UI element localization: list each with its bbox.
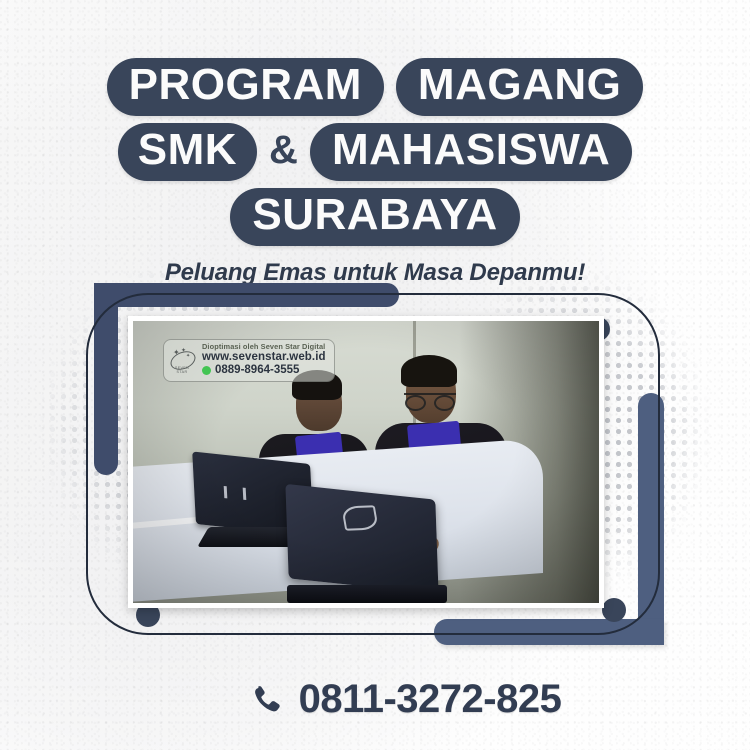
headline-pill-surabaya: SURABAYA bbox=[230, 188, 519, 246]
headline-line-3: SURABAYA bbox=[0, 188, 750, 246]
headline-pill-program: PROGRAM bbox=[107, 58, 384, 116]
footer-contact: 0811-3272-825 bbox=[0, 677, 750, 722]
watermark-text-block: Dioptimasi oleh Seven Star Digital www.s… bbox=[202, 343, 326, 377]
logo-star-icon: ✦ bbox=[173, 349, 180, 357]
footer-phone-number: 0811-3272-825 bbox=[299, 677, 562, 722]
photo-card: ✦ ✦ ✦ SEVEN STAR Dioptimasi oleh Seven S… bbox=[128, 316, 604, 608]
seven-star-logo-icon: ✦ ✦ ✦ SEVEN STAR bbox=[169, 347, 195, 373]
headline-ampersand: & bbox=[269, 130, 298, 174]
headline-group: PROGRAM MAGANG SMK & MAHASISWA SURABAYA … bbox=[0, 58, 750, 287]
headline-line-2: SMK & MAHASISWA bbox=[0, 123, 750, 181]
watermark-phone-text: 0889-8964-3555 bbox=[215, 364, 299, 377]
phone-icon bbox=[249, 683, 283, 717]
watermark-line-website: www.sevenstar.web.id bbox=[202, 351, 326, 364]
whatsapp-icon bbox=[202, 366, 211, 375]
frame-dot-bottom-right bbox=[602, 598, 626, 622]
headline-pill-magang: MAGANG bbox=[396, 58, 643, 116]
watermark-line-phone: 0889-8964-3555 bbox=[202, 364, 326, 377]
watermark-line-credit: Dioptimasi oleh Seven Star Digital bbox=[202, 343, 326, 351]
logo-star-icon-3: ✦ bbox=[186, 352, 190, 360]
headline-pill-smk: SMK bbox=[118, 123, 257, 181]
photo-frame-group: ✦ ✦ ✦ SEVEN STAR Dioptimasi oleh Seven S… bbox=[78, 283, 678, 653]
poster-canvas: PROGRAM MAGANG SMK & MAHASISWA SURABAYA … bbox=[0, 0, 750, 750]
watermark-badge: ✦ ✦ ✦ SEVEN STAR Dioptimasi oleh Seven S… bbox=[163, 339, 335, 382]
headline-pill-mahasiswa: MAHASISWA bbox=[310, 123, 632, 181]
photo-image: ✦ ✦ ✦ SEVEN STAR Dioptimasi oleh Seven S… bbox=[133, 321, 599, 603]
logo-caption: SEVEN STAR bbox=[169, 366, 195, 374]
headline-line-1: PROGRAM MAGANG bbox=[0, 58, 750, 116]
